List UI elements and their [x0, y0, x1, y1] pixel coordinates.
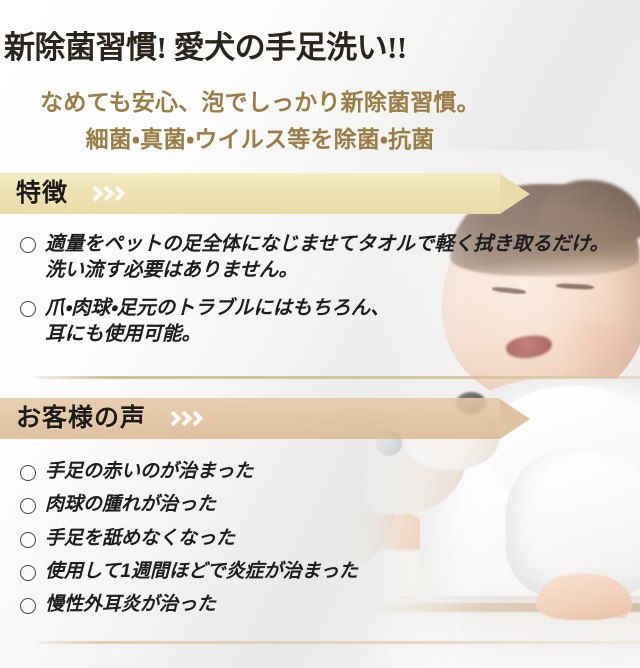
list-item: 使用して1週間ほどで炎症が治まった: [0, 560, 358, 584]
chevron-right-icon: [90, 186, 99, 202]
list-item: 爪・肉球・足元のトラブルにはもちろん、 耳にも使用可能。: [0, 296, 609, 348]
circle-bullet-icon: [20, 565, 36, 581]
banner-body: お客様の声: [0, 398, 500, 439]
banner-arrow-tip: [500, 399, 530, 439]
bottom-divider: [38, 641, 640, 644]
circle-bullet-icon: [20, 465, 36, 481]
circle-bullet-icon: [20, 598, 36, 614]
list-item: 慢性外耳炎が治った: [0, 593, 358, 617]
list-item-text: 肉球の腫れが治った: [45, 493, 216, 517]
chevron-right-icon: [168, 411, 177, 427]
section-title-features: 特徴: [16, 181, 68, 206]
chevron-right-icon: [101, 186, 110, 202]
list-item-text: 手足を舐めなくなった: [45, 527, 235, 551]
section-title-voices: お客様の声: [16, 406, 146, 431]
banner-body: 特徴: [0, 173, 500, 214]
section-divider: [34, 376, 640, 379]
section-banner-features: 特徴: [0, 173, 530, 214]
list-item: 手足を舐めなくなった: [0, 527, 358, 551]
chevron-right-icon: [179, 411, 188, 427]
baby-hand: [536, 574, 632, 620]
double-chevron-right-icon: [90, 186, 121, 202]
page-title: 新除菌習慣! 愛犬の手足洗い!!: [4, 22, 407, 67]
circle-bullet-icon: [20, 237, 36, 253]
section-banner-voices: お客様の声: [0, 398, 530, 439]
circle-bullet-icon: [20, 498, 36, 514]
chevron-right-icon: [190, 411, 199, 427]
list-item: 適量をペットの足全体になじませてタオルで軽く拭き取るだけ。 洗い流す必要はありま…: [0, 232, 609, 284]
circle-bullet-icon: [20, 301, 36, 317]
chevron-right-icon: [112, 186, 121, 202]
features-list: 適量をペットの足全体になじませてタオルで軽く拭き取るだけ。 洗い流す必要はありま…: [0, 232, 609, 360]
list-item: 手足の赤いのが治まった: [0, 460, 358, 484]
double-chevron-right-icon: [168, 411, 199, 427]
subheading-line-2: 細菌・真菌・ウイルス等を除菌・抗菌: [0, 120, 520, 154]
testimonials-list: 手足の赤いのが治まった 肉球の腫れが治った 手足を舐めなくなった 使用して1週間…: [0, 460, 358, 627]
list-item-text: 手足の赤いのが治まった: [45, 460, 253, 484]
banner-arrow-tip: [500, 174, 530, 214]
promo-page: 新除菌習慣! 愛犬の手足洗い!! なめても安心、泡でしっかり新除菌習慣。 細菌・…: [0, 0, 640, 668]
list-item-text: 使用して1週間ほどで炎症が治まった: [45, 560, 358, 584]
list-item: 肉球の腫れが治った: [0, 493, 358, 517]
list-item-text: 慢性外耳炎が治った: [45, 593, 216, 617]
list-item-text: 適量をペットの足全体になじませてタオルで軽く拭き取るだけ。 洗い流す必要はありま…: [45, 232, 609, 284]
circle-bullet-icon: [20, 532, 36, 548]
list-item-text: 爪・肉球・足元のトラブルにはもちろん、 耳にも使用可能。: [45, 296, 390, 348]
subheading-line-1: なめても安心、泡でしっかり新除菌習慣。: [0, 83, 520, 117]
